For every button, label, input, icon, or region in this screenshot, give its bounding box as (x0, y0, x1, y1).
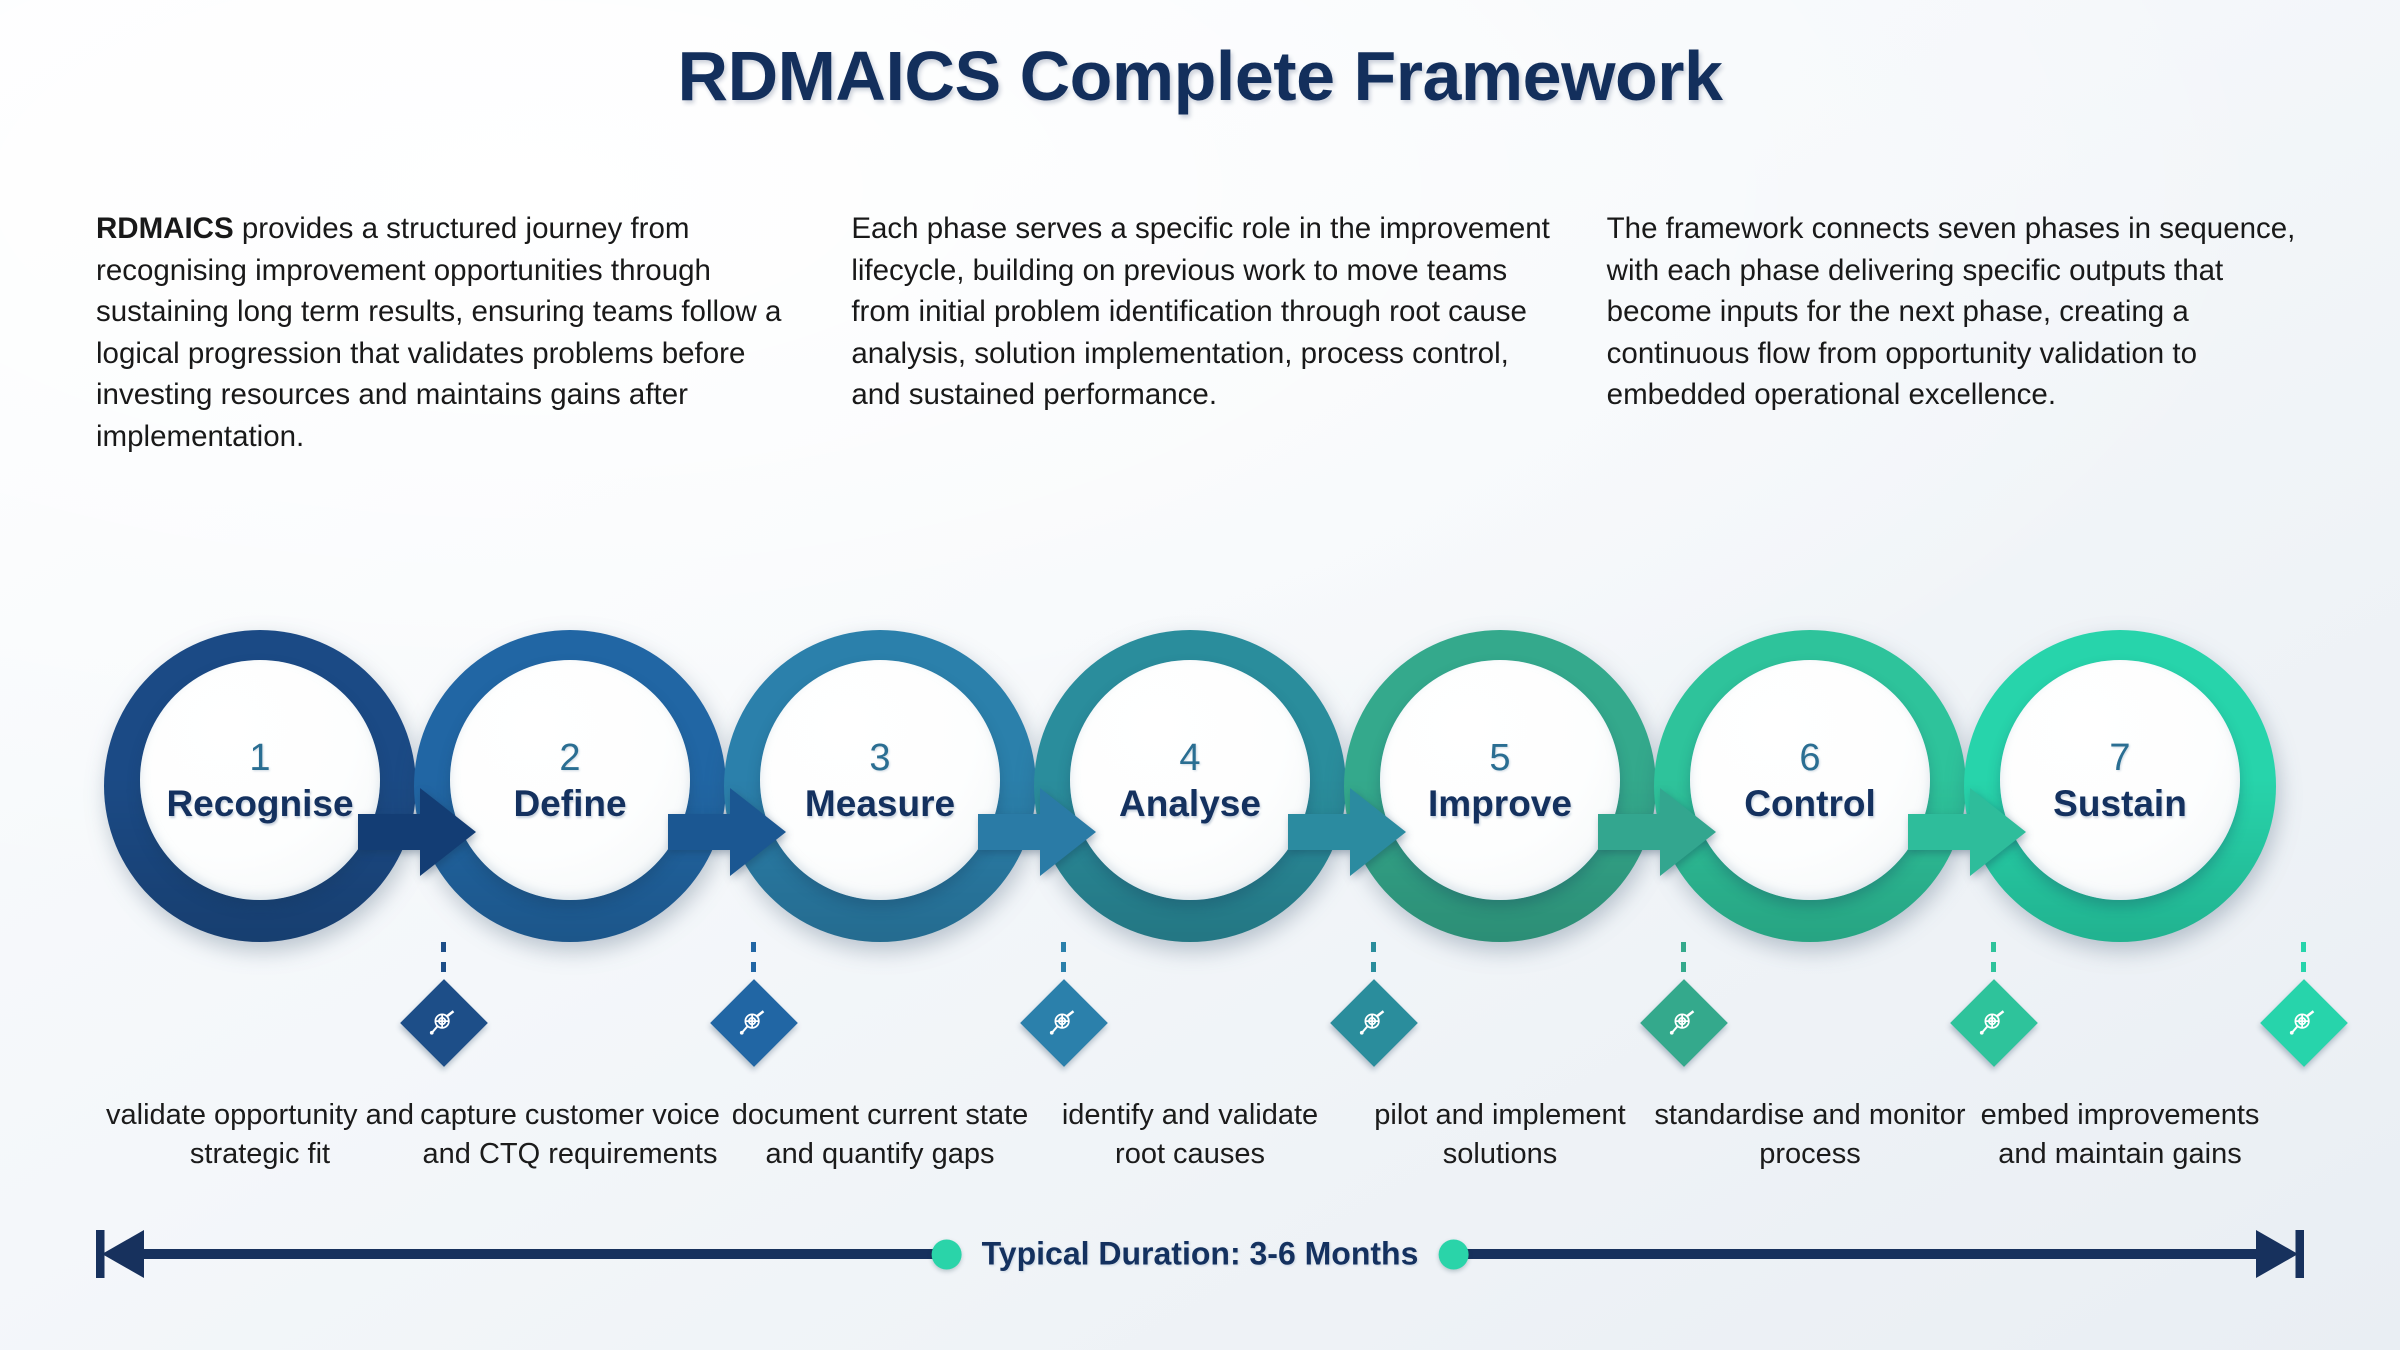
phase-name: Measure (805, 785, 955, 822)
phase-number: 3 (869, 739, 890, 777)
phase-disc: 7Sustain (2000, 660, 2240, 900)
duration-bar: Typical Duration: 3-6 Months (96, 1222, 2304, 1286)
phase-caption: identify and validate root causes (1034, 1096, 1346, 1173)
magnifier-target-icon[interactable] (1330, 979, 1418, 1067)
phase-arrow-4-to-5 (1288, 784, 1406, 880)
phase-number: 7 (2109, 739, 2130, 777)
phase-caption: embed improvements and maintain gains (1964, 1096, 2276, 1173)
phase-disc: 3Measure (760, 660, 1000, 900)
phase-disc: 6Control (1690, 660, 1930, 900)
intro-paragraph-1: RDMAICS provides a structured journey fr… (96, 208, 809, 458)
phase-caption: capture customer voice and CTQ requireme… (414, 1096, 726, 1173)
magnifier-target-icon[interactable] (1640, 979, 1728, 1067)
intro-column-2: Each phase serves a specific role in the… (851, 208, 1564, 458)
phase-name: Define (513, 785, 626, 822)
magnifier-target-icon[interactable] (1950, 979, 2038, 1067)
phase-arrow-1-to-2 (358, 784, 476, 880)
phase-number: 6 (1799, 739, 1820, 777)
magnifier-target-icon[interactable] (710, 979, 798, 1067)
phase-arrow-6-to-7 (1908, 784, 2026, 880)
phase-number: 4 (1179, 739, 1200, 777)
phase-disc: 2Define (450, 660, 690, 900)
phase-name: Control (1744, 785, 1876, 822)
phase-caption: pilot and implement solutions (1344, 1096, 1656, 1173)
phase-arrow-2-to-3 (668, 784, 786, 880)
phase-number: 2 (559, 739, 580, 777)
magnifier-target-icon[interactable] (1020, 979, 1108, 1067)
magnifier-target-icon[interactable] (2260, 979, 2348, 1067)
phase-name: Analyse (1119, 785, 1261, 822)
phase-arrow-3-to-4 (978, 784, 1096, 880)
phase-disc: 4Analyse (1070, 660, 1310, 900)
intro-paragraph-2: Each phase serves a specific role in the… (851, 208, 1564, 416)
intro-lead-term: RDMAICS (96, 212, 234, 245)
duration-label-group: Typical Duration: 3-6 Months (922, 1236, 1479, 1273)
phase-name: Recognise (166, 785, 353, 822)
infographic-canvas: RDMAICS Complete Framework RDMAICS provi… (0, 0, 2400, 1350)
phase-name: Improve (1428, 785, 1572, 822)
phase-arrow-5-to-6 (1598, 784, 1716, 880)
duration-text: Typical Duration: 3-6 Months (982, 1236, 1419, 1273)
phase-caption: document current state and quantify gaps (724, 1096, 1036, 1173)
magnifier-target-icon[interactable] (400, 979, 488, 1067)
intro-paragraph-3: The framework connects seven phases in s… (1607, 208, 2320, 416)
phase-caption: standardise and monitor process (1654, 1096, 1966, 1173)
duration-dot-right (1438, 1239, 1468, 1269)
phase-caption: validate opportunity and strategic fit (104, 1096, 416, 1173)
phase-disc: 5Improve (1380, 660, 1620, 900)
phase-number: 5 (1489, 739, 1510, 777)
phase-disc: 1Recognise (140, 660, 380, 900)
intro-columns: RDMAICS provides a structured journey fr… (96, 208, 2320, 458)
duration-dot-left (932, 1239, 962, 1269)
phase-number: 1 (249, 739, 270, 777)
phase-name: Sustain (2053, 785, 2187, 822)
phase-track: 1Recognise validate opportunity and stra… (0, 630, 2400, 1150)
intro-column-3: The framework connects seven phases in s… (1607, 208, 2320, 458)
intro-text-1: provides a structured journey from recog… (96, 212, 781, 453)
page-title: RDMAICS Complete Framework (0, 36, 2400, 116)
intro-column-1: RDMAICS provides a structured journey fr… (96, 208, 809, 458)
